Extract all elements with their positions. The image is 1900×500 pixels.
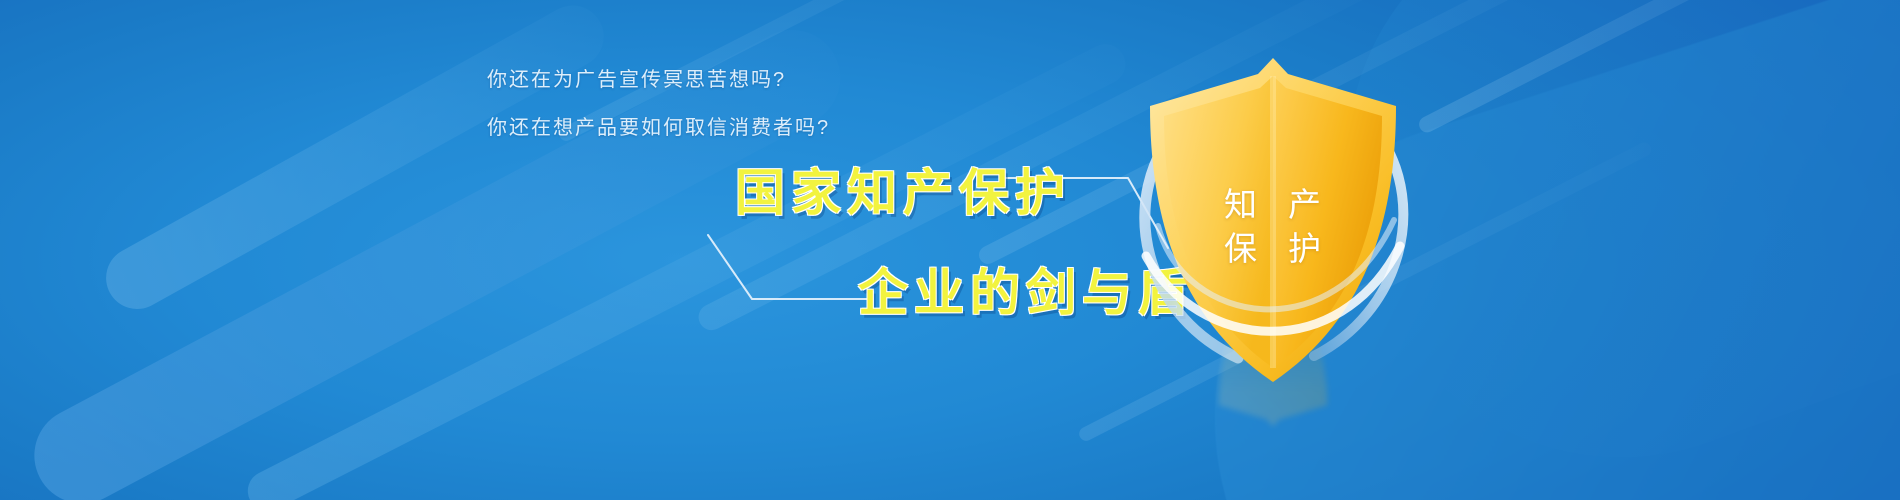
shield-label-row-1: 知 产	[1224, 183, 1322, 227]
headline-line-1: 国家知产保护	[735, 168, 1071, 218]
shield-char-3: 保	[1224, 227, 1258, 271]
shield-char-4: 护	[1288, 227, 1322, 271]
shield-char-2: 产	[1288, 183, 1322, 227]
subtitle-line-1: 你还在为广告宣传冥思苦想吗?	[487, 70, 830, 90]
shield-label: 知 产 保 护	[1128, 50, 1418, 390]
subtitle-line-2: 你还在想产品要如何取信消费者吗?	[487, 118, 830, 138]
shield-char-1: 知	[1224, 183, 1258, 227]
shield-icon: 知 产 保 护	[1128, 50, 1418, 390]
subtitle-block: 你还在为广告宣传冥思苦想吗? 你还在想产品要如何取信消费者吗?	[487, 70, 830, 166]
shield-label-row-2: 保 护	[1224, 227, 1322, 271]
promo-banner: 你还在为广告宣传冥思苦想吗? 你还在想产品要如何取信消费者吗? 国家知产保护 企…	[0, 0, 1900, 500]
